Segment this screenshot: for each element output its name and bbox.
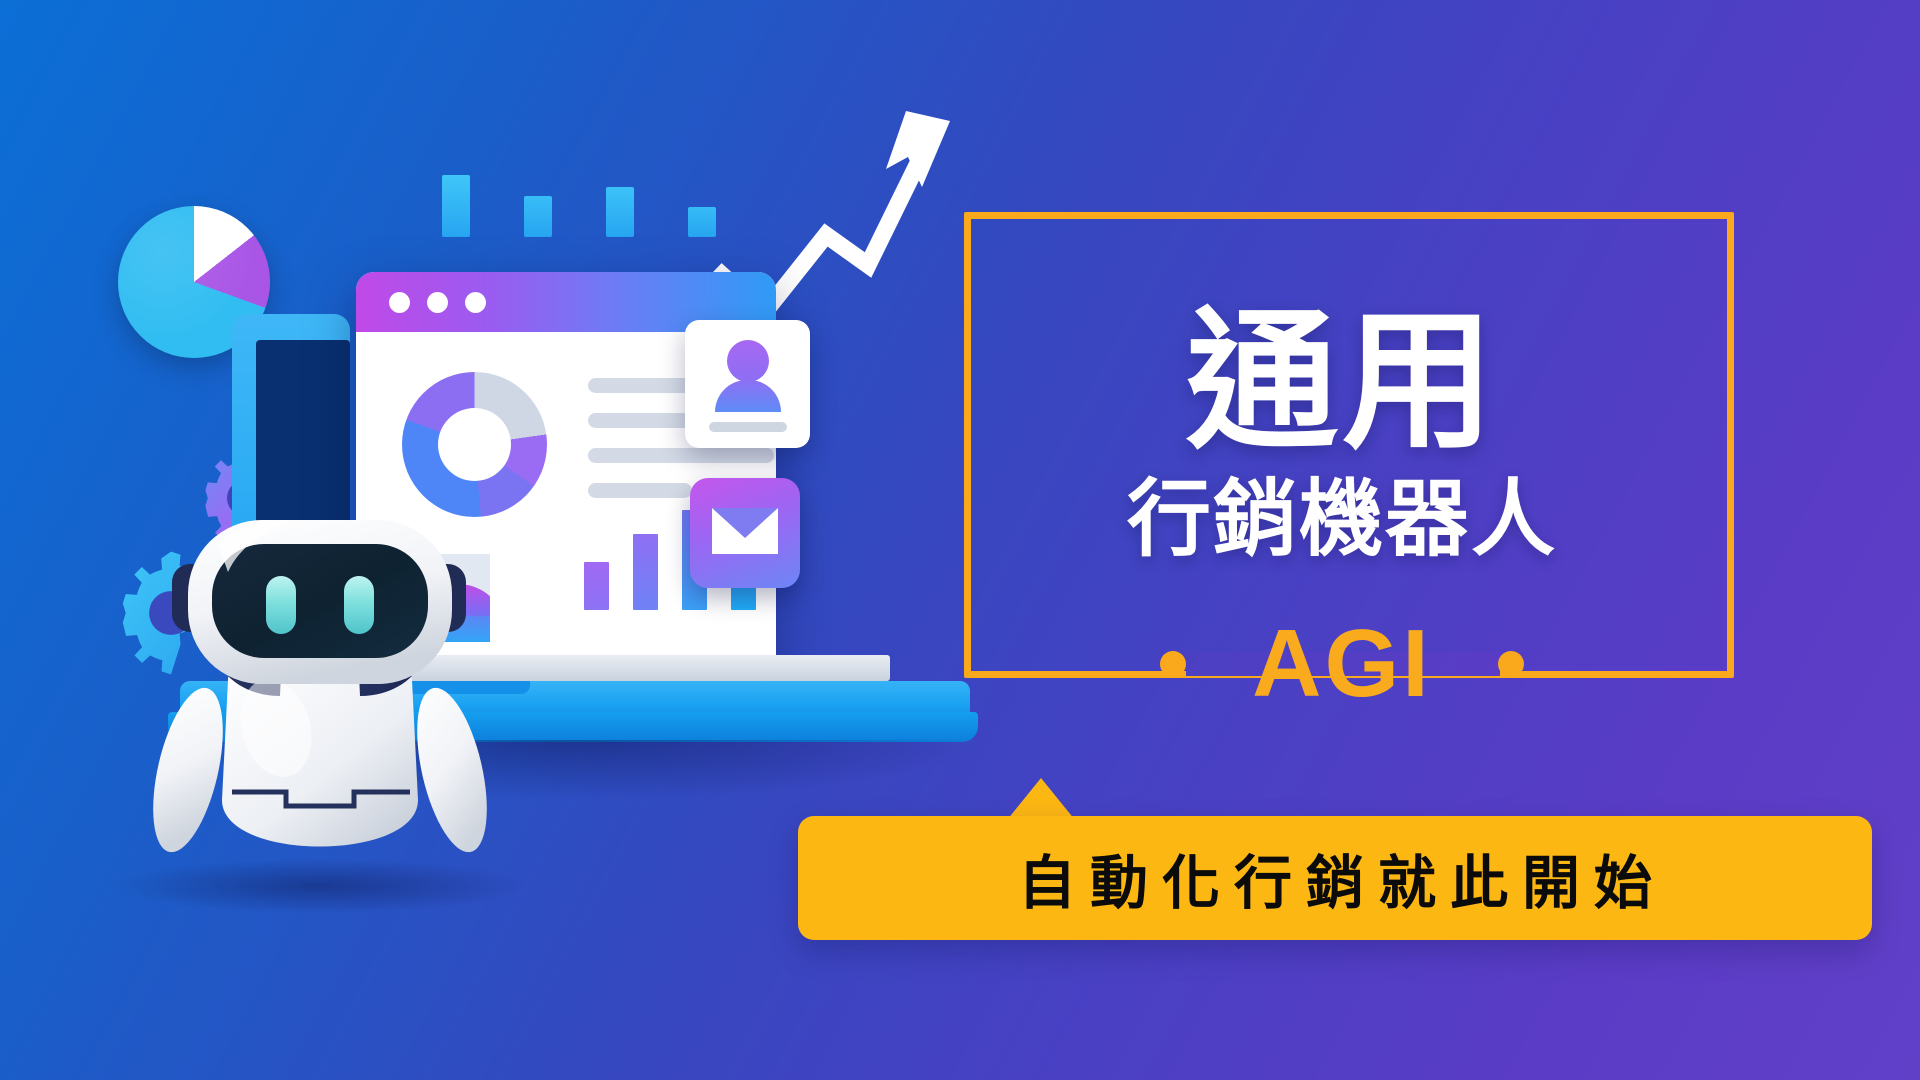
dashboard-donut-chart <box>402 372 547 517</box>
banner-pointer <box>1007 778 1075 820</box>
contact-avatar-body <box>715 380 781 412</box>
connector-dot-left <box>1160 651 1186 677</box>
contact-card-icon <box>685 320 810 448</box>
acronym-row: AGI <box>964 612 1720 716</box>
dashboard-text-line-4 <box>588 483 692 498</box>
page-subtitle: 行銷機器人 <box>1127 473 1557 565</box>
window-dot-3 <box>465 292 486 313</box>
dashboard-text-line-3 <box>588 448 774 463</box>
contact-avatar-head <box>727 340 769 382</box>
connector-dot-right <box>1498 651 1524 677</box>
contact-name-line <box>709 422 787 432</box>
email-icon <box>690 478 800 588</box>
tagline-text: 自動化行銷就此開始 <box>1004 836 1666 920</box>
background-bar-1 <box>442 175 470 237</box>
tagline-banner: 自動化行銷就此開始 <box>798 816 1872 940</box>
page-title: 通用 <box>1186 304 1498 459</box>
acronym-label: AGI <box>1222 616 1462 712</box>
marketing-robot-mascot <box>140 500 500 890</box>
window-dot-2 <box>427 292 448 313</box>
headline-block: 通用 行銷機器人 <box>964 212 1720 664</box>
banner-canvas: 通用 行銷機器人 AGI 自動化行銷就此開始 <box>0 0 1920 1080</box>
dashboard-bar-2 <box>633 534 658 610</box>
background-bar-3 <box>606 187 634 237</box>
dashboard-bar-1 <box>584 562 609 610</box>
background-bar-2 <box>524 196 552 237</box>
window-dot-1 <box>389 292 410 313</box>
envelope-flap <box>712 508 778 538</box>
